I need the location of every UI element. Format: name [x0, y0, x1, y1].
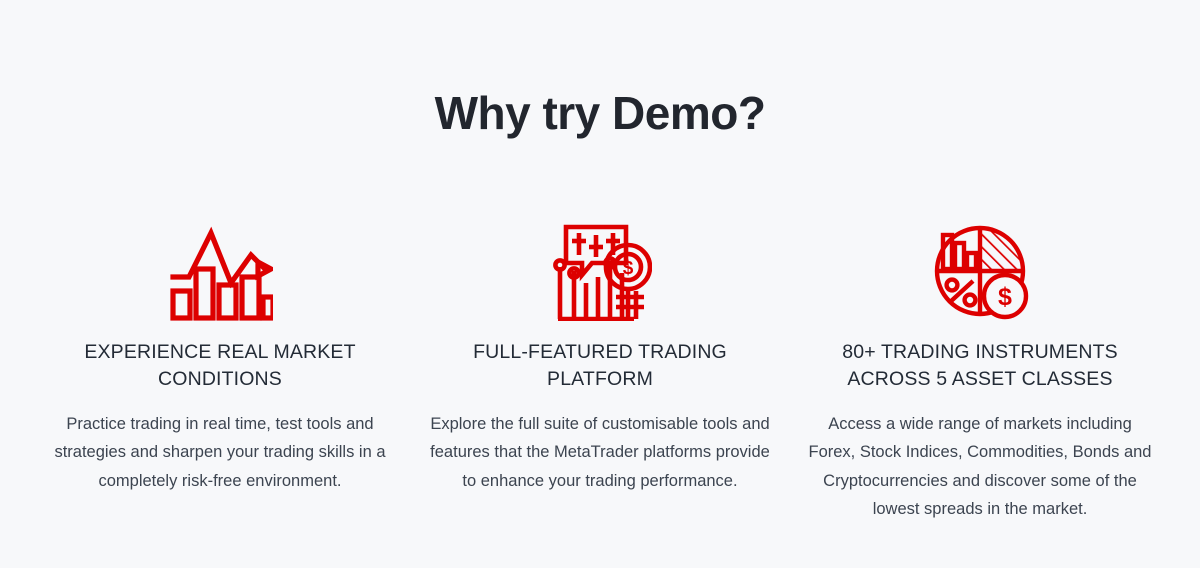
features-row: EXPERIENCE REAL MARKET CONDITIONS Practi… — [0, 217, 1200, 524]
feature-card-1: EXPERIENCE REAL MARKET CONDITIONS Practi… — [30, 217, 410, 496]
feature-description: Practice trading in real time, test tool… — [48, 410, 392, 495]
feature-card-2: $ FULL-FEATURED TRADING PLATFORM Explore… — [410, 217, 790, 496]
pie-chart-asset-classes-icon: $ — [929, 217, 1031, 321]
feature-title: FULL-FEATURED TRADING PLATFORM — [435, 339, 765, 394]
page-title: Why try Demo? — [435, 88, 766, 139]
svg-text:$: $ — [623, 258, 634, 279]
feature-title: EXPERIENCE REAL MARKET CONDITIONS — [55, 339, 385, 394]
feature-card-3: $ 80+ TRADING INSTRUMENTS ACROSS 5 ASSET… — [790, 217, 1170, 524]
trading-platform-candlestick-magnifier-icon: $ — [548, 217, 652, 321]
bar-line-chart-arrow-icon — [167, 217, 273, 321]
feature-title: 80+ TRADING INSTRUMENTS ACROSS 5 ASSET C… — [815, 339, 1145, 394]
feature-description: Explore the full suite of customisable t… — [428, 410, 772, 495]
feature-description: Access a wide range of markets including… — [808, 410, 1152, 524]
why-try-demo-section: Why try Demo? EXPERIENCE REAL MARKET — [0, 0, 1200, 568]
svg-text:$: $ — [998, 283, 1012, 311]
